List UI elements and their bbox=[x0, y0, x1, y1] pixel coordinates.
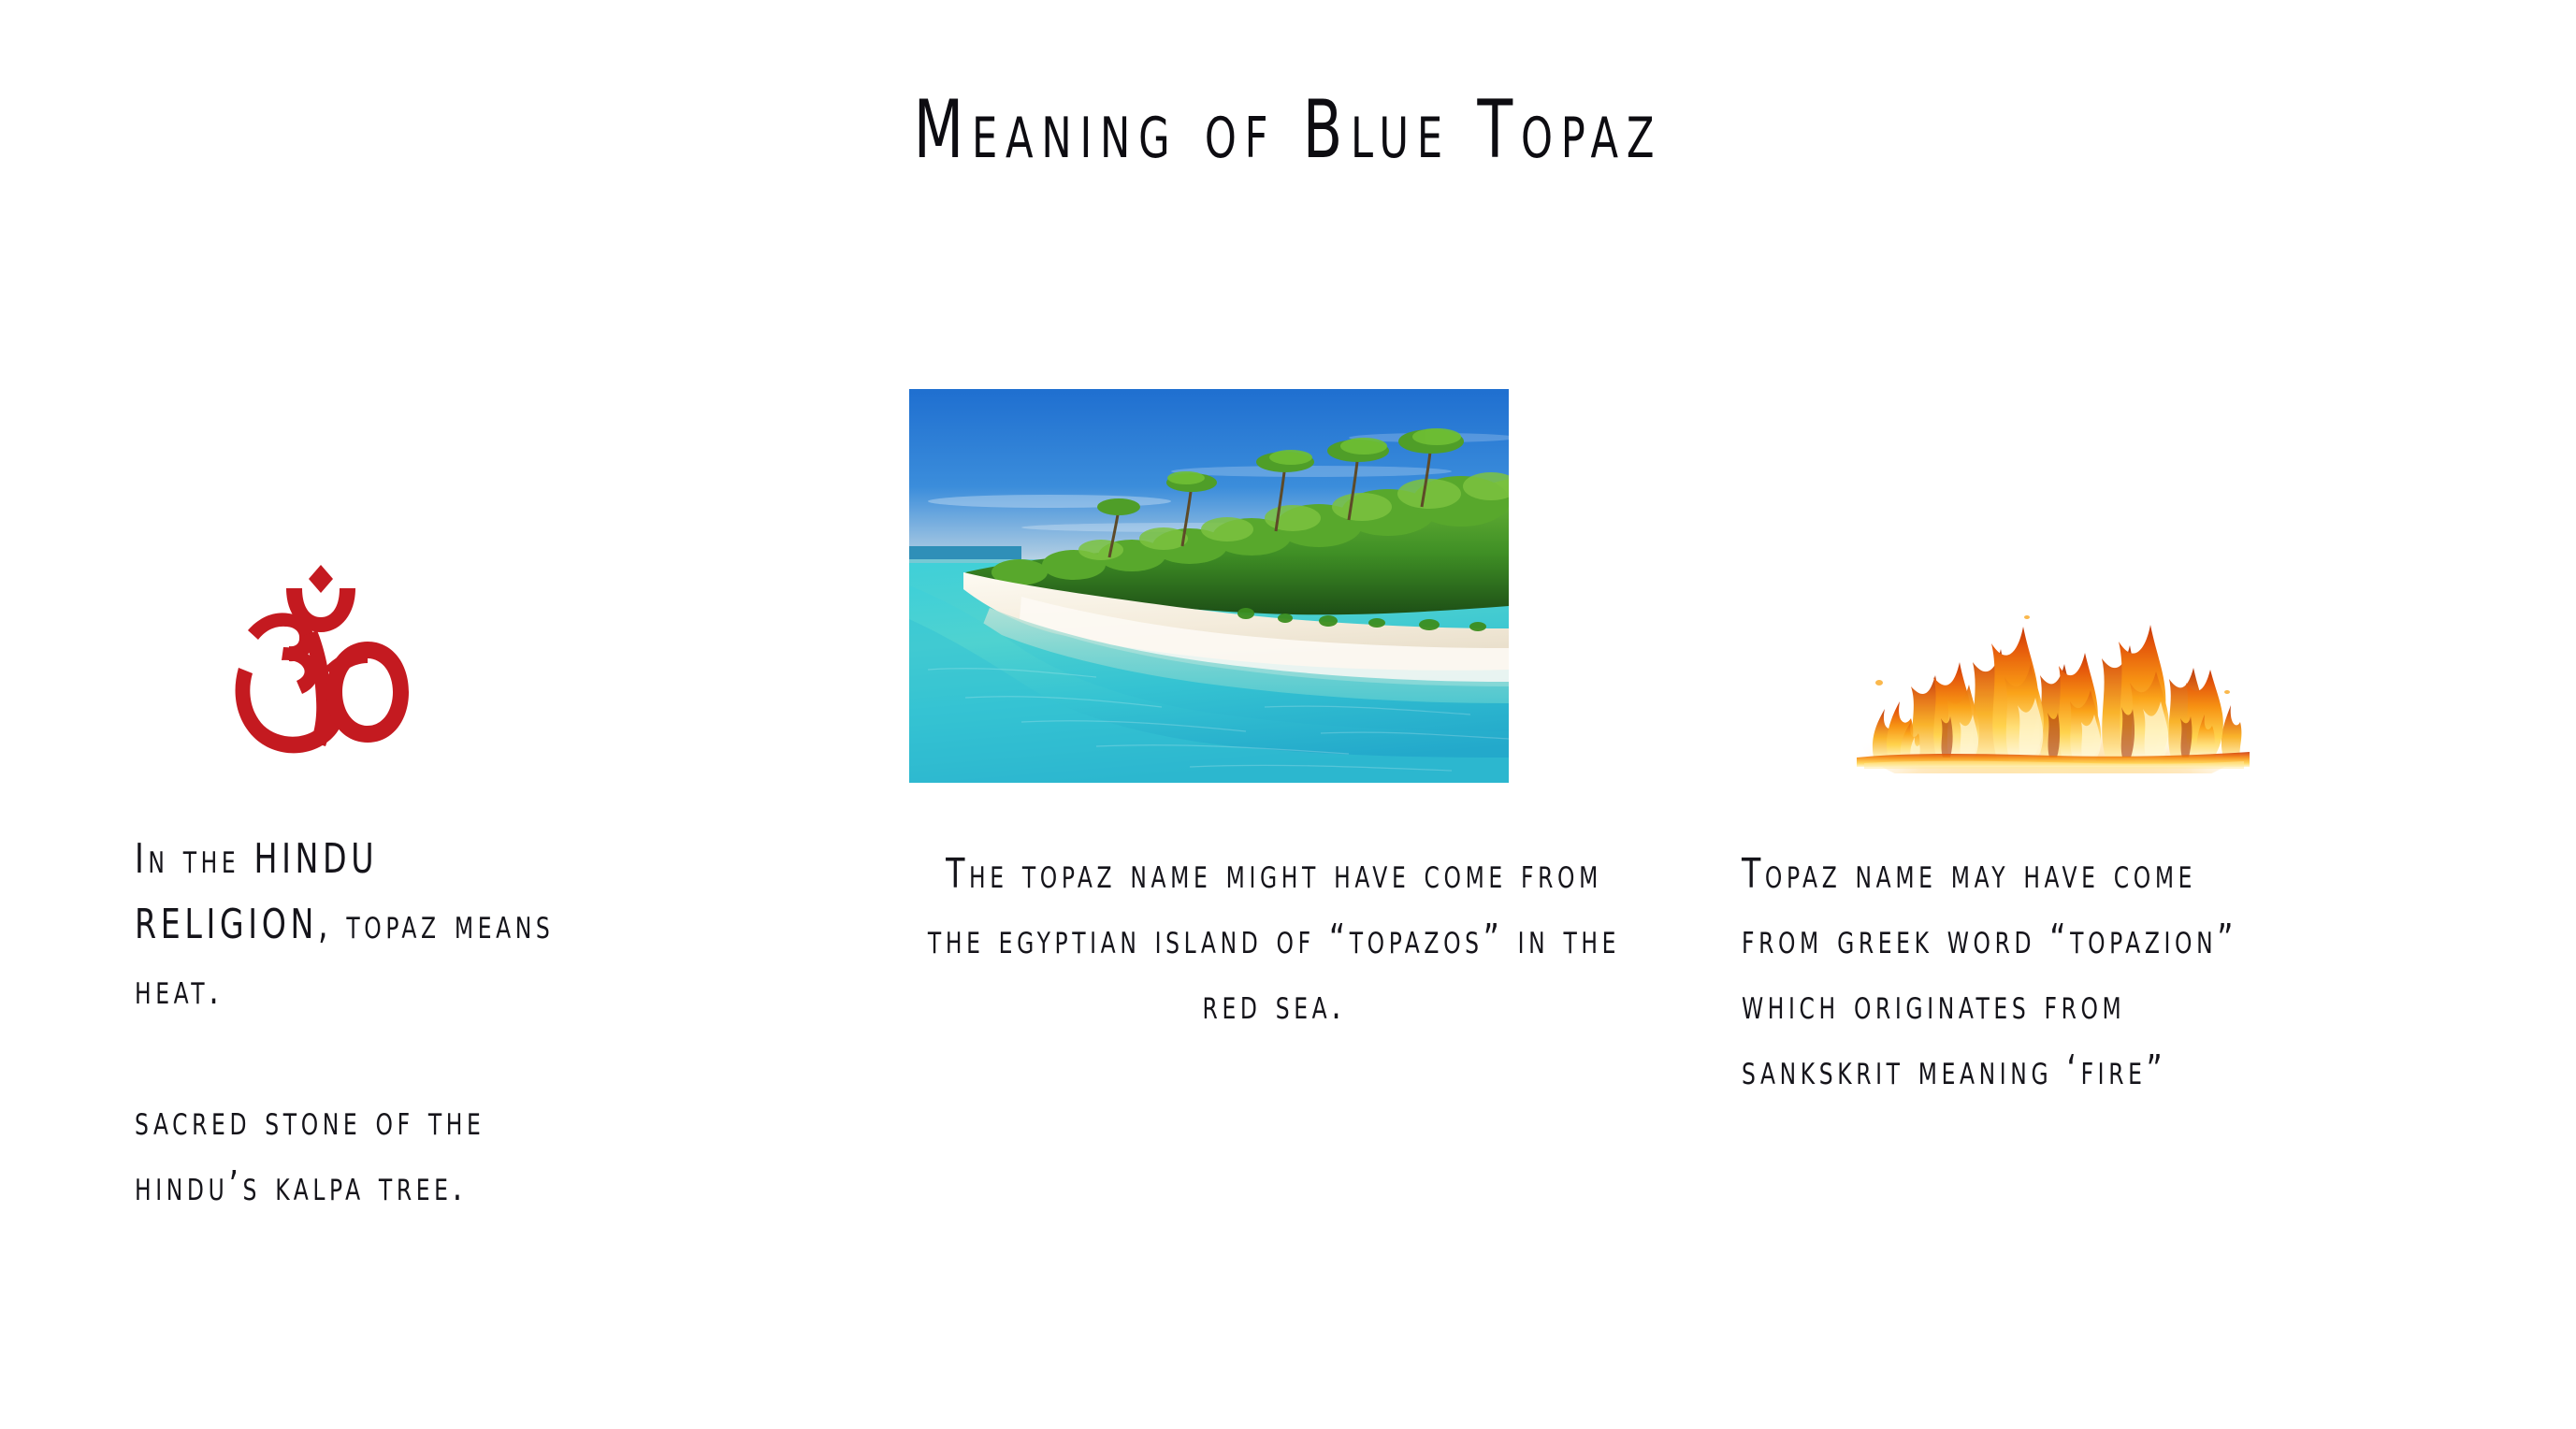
right-paragraph-1: Topaz name may have come from greek word… bbox=[1742, 842, 2292, 1104]
om-symbol-icon bbox=[227, 557, 414, 758]
column-right: Topaz name may have come from greek word… bbox=[1684, 0, 2488, 1429]
column-left: In the HINDU RELIGION, topaz means heat.… bbox=[90, 0, 838, 1429]
column-center: The topaz name might have come from the … bbox=[853, 0, 1601, 1429]
center-column-text: The topaz name might have come from the … bbox=[920, 842, 1628, 1038]
left-paragraph-2: sacred stone of the hindu’s kalpa tree. bbox=[135, 1089, 574, 1220]
left-column-text: In the HINDU RELIGION, topaz means heat.… bbox=[135, 827, 574, 1220]
fire-flames-image bbox=[1857, 572, 2250, 773]
tropical-beach-photo bbox=[909, 389, 1509, 783]
left-paragraph-1: In the HINDU RELIGION, topaz means heat. bbox=[135, 827, 574, 1023]
center-paragraph-1: The topaz name might have come from the … bbox=[920, 842, 1628, 1038]
slide-canvas: Meaning of Blue Topaz bbox=[0, 0, 2576, 1429]
right-column-text: Topaz name may have come from greek word… bbox=[1742, 842, 2292, 1104]
